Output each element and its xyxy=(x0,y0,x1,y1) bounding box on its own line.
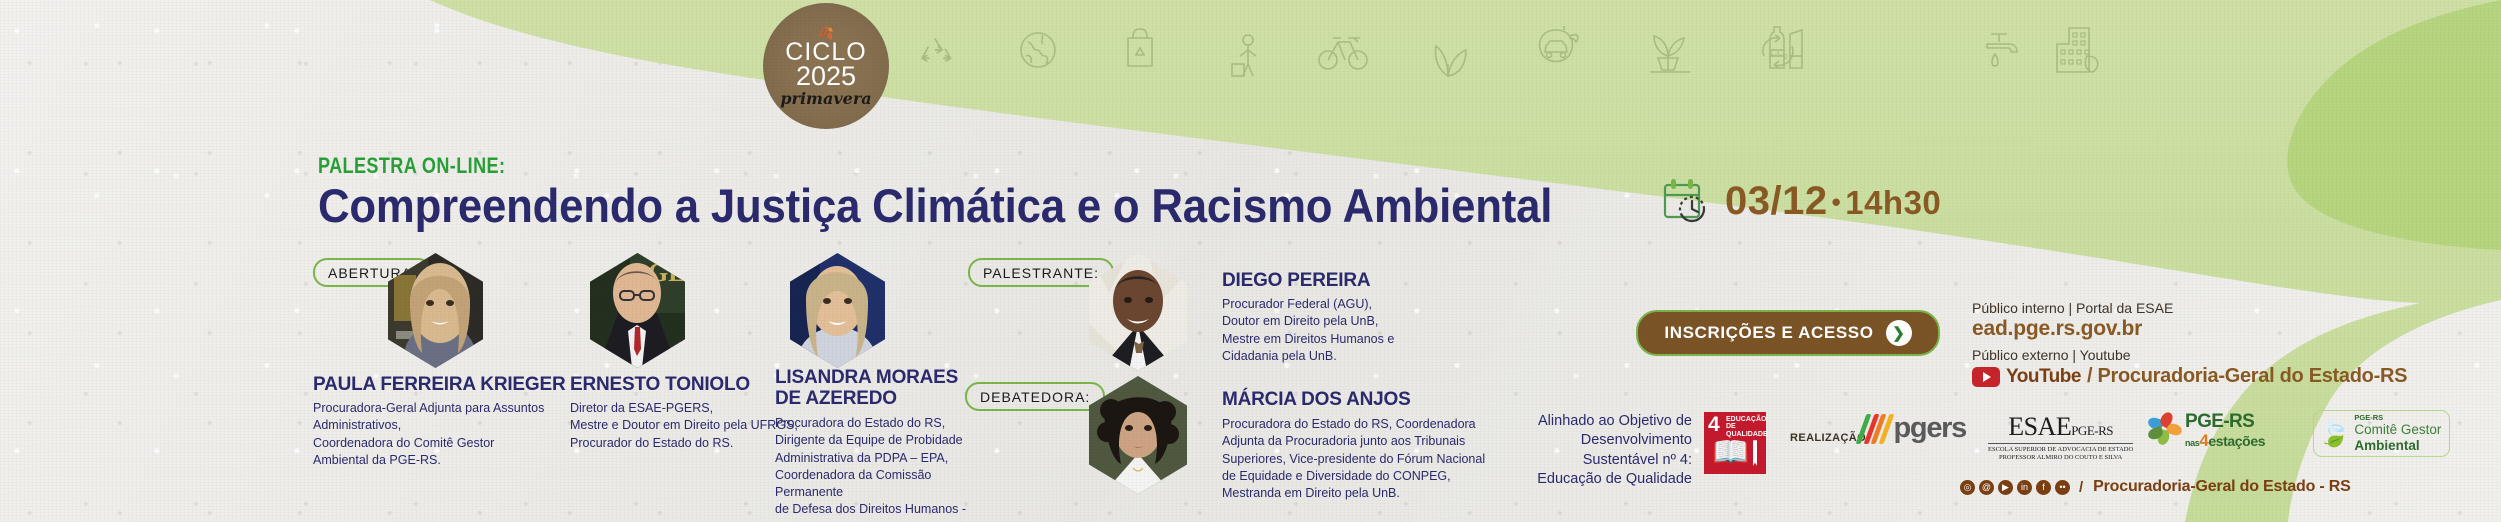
pencil-icon xyxy=(1753,438,1757,466)
linkedin-icon[interactable]: in xyxy=(2017,480,2032,495)
pinwheel-icon xyxy=(2148,414,2182,448)
person-bio: Diretor da ESAE-PGERS, Mestre e Doutor e… xyxy=(570,400,800,452)
green-building-icon xyxy=(2057,28,2098,72)
leaves-icon: 🍃 xyxy=(2318,420,2350,446)
electric-car-icon xyxy=(1540,26,1578,62)
external-audience-label: Público externo | Youtube xyxy=(1972,347,2407,363)
role-label: PALESTRANTE: xyxy=(983,265,1099,281)
youtube-channel: / Procuradoria-Geral do Estado-RS xyxy=(2087,365,2407,388)
badge-line2: 2025 xyxy=(796,63,856,90)
role-label: DEBATEDORA: xyxy=(980,389,1090,405)
esae-logo: ESAEPGE-RS ESCOLA SUPERIOR DE ADVOCACIA … xyxy=(1988,414,2133,462)
event-date-time: 03/12•14h30 xyxy=(1725,179,1941,224)
access-info: Público interno | Portal da ESAE ead.pge… xyxy=(1972,300,2407,388)
person-bio: Procuradora do Estado do RS, Dirigente d… xyxy=(775,415,1000,522)
leaf-icon: 🍂 xyxy=(818,26,834,39)
social-handle: Procuradoria-Geral do Estado - RS xyxy=(2093,478,2350,496)
date-separator: • xyxy=(1832,187,1842,217)
cga-top: PGE-RS xyxy=(2354,414,2441,422)
flickr-icon[interactable]: •• xyxy=(2055,480,2070,495)
calendar-clock-icon xyxy=(1663,178,1711,224)
person-bio: Procuradora do Estado do RS, Coordenador… xyxy=(1222,416,1512,502)
badge-line3: primavera xyxy=(780,91,871,107)
estacoes-rest: estações xyxy=(2208,433,2265,449)
pgers-logo: pgers xyxy=(1861,412,1966,445)
cga-line2: Ambiental xyxy=(2354,438,2441,453)
instagram-icon[interactable]: ◎ xyxy=(1960,480,1975,495)
person-name: DIEGO PEREIRA xyxy=(1222,271,1472,292)
ods-number: 4 xyxy=(1708,414,1720,435)
comite-gestor-ambiental-logo: 🍃 PGE-RS Comitê Gestor Ambiental xyxy=(2313,410,2450,457)
recycle-icon xyxy=(922,38,950,61)
esae-acronym: ESAEPGE-RS xyxy=(1988,414,2133,440)
internal-url[interactable]: ead.pge.rs.gov.br xyxy=(1972,317,2407,341)
estacoes-title: PGE-RS xyxy=(2185,412,2265,431)
person-name: MÁRCIA DOS ANJOS xyxy=(1222,390,1502,411)
pgers-wordmark: pgers xyxy=(1894,412,1966,445)
event-date-block: 03/12•14h30 xyxy=(1663,178,1941,224)
ods-4-logo: 4 EDUCAÇÃO DE QUALIDADE 📖 xyxy=(1704,412,1766,474)
event-date: 03/12 xyxy=(1725,179,1828,223)
youtube-link-row[interactable]: YouTube / Procuradoria-Geral do Estado-R… xyxy=(1972,365,2407,388)
person-name: PAULA FERREIRA KRIEGER xyxy=(313,375,575,396)
internal-audience-label: Público interno | Portal da ESAE xyxy=(1972,300,2407,316)
esae-main: ESAE xyxy=(2008,412,2071,441)
open-book-icon: 📖 xyxy=(1712,438,1749,468)
pge-rs-nas-4-estacoes-logo: PGE-RS nas4estações xyxy=(2148,412,2265,449)
person-name: LISANDRA MORAES DE AZEREDO xyxy=(775,368,990,410)
ods-text: Alinhado ao Objetivo de Desenvolvimento … xyxy=(1492,412,1692,489)
estacoes-nas: nas xyxy=(2185,438,2199,448)
person-name: ERNESTO TONIOLO xyxy=(570,375,790,396)
bicycle-icon xyxy=(1319,38,1367,69)
esae-subtitle: ESCOLA SUPERIOR DE ADVOCACIA DE ESTADO P… xyxy=(1988,443,2133,462)
facebook-icon[interactable]: f xyxy=(2036,480,2051,495)
chevron-right-icon: ❯ xyxy=(1886,320,1912,346)
ciclo-badge: 🍂 CICLO 2025 primavera xyxy=(763,3,889,129)
person-bio: Procurador Federal (AGU), Doutor em Dire… xyxy=(1222,296,1472,365)
youtube-wordmark: YouTube xyxy=(2006,366,2081,388)
plant-pot-icon xyxy=(1650,36,1690,72)
event-banner: CO 2 xyxy=(0,0,2501,522)
cta-label: INSCRIÇÕES E ACESSO xyxy=(1664,323,1873,343)
person-waste-icon xyxy=(1232,35,1256,76)
threads-icon[interactable]: @ xyxy=(1979,480,1994,495)
social-separator: / xyxy=(2079,479,2083,496)
event-time: 14h30 xyxy=(1845,184,1941,221)
youtube-icon[interactable]: ▶ xyxy=(1998,480,2013,495)
globe-icon xyxy=(1021,33,1055,67)
page-title: Compreendendo a Justiça Climática e o Ra… xyxy=(318,178,1552,233)
esae-suffix: PGE-RS xyxy=(2071,423,2113,438)
leaves-icon xyxy=(1436,46,1467,76)
role-pill-debatedora: DEBATEDORA: xyxy=(965,382,1105,411)
cga-line1: Comitê Gestor xyxy=(2354,422,2441,437)
co2-cycle-icon: CO 2 xyxy=(1763,35,1793,68)
ods-title: EDUCAÇÃO DE QUALIDADE xyxy=(1726,416,1768,438)
pgers-bars-icon xyxy=(1856,414,1894,444)
youtube-icon xyxy=(1972,367,2000,387)
faucet-drop-icon xyxy=(1987,34,2017,66)
person-bio: Procuradora-Geral Adjunta para Assuntos … xyxy=(313,400,581,469)
kicker-label: PALESTRA ON-LINE: xyxy=(318,153,505,179)
plastic-bag-icon xyxy=(1128,29,1152,66)
social-media-row[interactable]: ◎ @ ▶ in f •• / Procuradoria-Geral do Es… xyxy=(1960,478,2351,496)
inscricoes-e-acesso-button[interactable]: INSCRIÇÕES E ACESSO ❯ xyxy=(1636,310,1940,356)
